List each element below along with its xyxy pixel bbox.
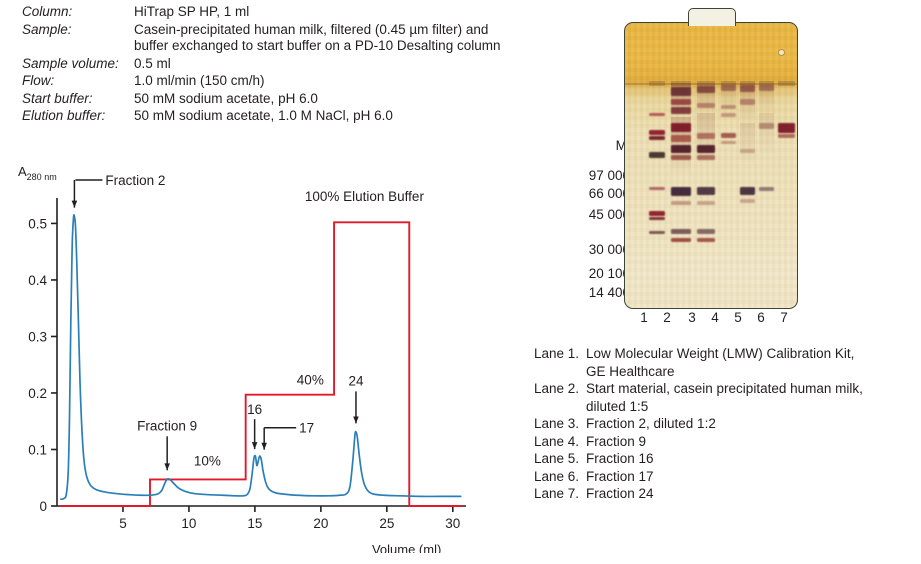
gel-lane-6 <box>759 83 774 302</box>
gel-band <box>649 130 666 135</box>
fraction-17-arrow-head <box>261 443 267 450</box>
gel-smear <box>740 123 755 163</box>
gel-band <box>721 133 736 138</box>
gel-lane-3 <box>697 83 715 302</box>
gel-well-6 <box>759 81 774 86</box>
legend-text-line1: Fraction 16 <box>586 451 654 466</box>
annotation-fraction-2: Fraction 2 <box>105 173 165 188</box>
legend-lane-text: Fraction 16 <box>586 450 914 468</box>
y-axis-tick-labels: 00.10.20.30.40.5 <box>28 216 47 514</box>
gel-band <box>649 187 666 190</box>
legend-row: Lane 4.Fraction 9 <box>534 433 914 451</box>
gel-band <box>697 103 715 108</box>
y-tick-label: 0.1 <box>28 442 47 457</box>
legend-lane-key: Lane 2. <box>534 380 586 398</box>
gel-band <box>721 113 736 117</box>
gel-lane-2 <box>671 83 691 302</box>
gel-band <box>759 187 774 191</box>
y-tick-label: 0.5 <box>28 216 47 231</box>
gel-band <box>671 87 691 96</box>
method-parameters: Column: HiTrap SP HP, 1 ml Sample: Casei… <box>22 4 562 126</box>
param-row: Column: HiTrap SP HP, 1 ml <box>22 4 562 21</box>
param-key: Start buffer: <box>22 91 134 108</box>
param-row: Sample volume: 0.5 ml <box>22 56 562 73</box>
gel-well-3 <box>697 81 715 86</box>
gel-band <box>740 149 755 153</box>
gel-band <box>671 123 691 132</box>
legend-lane-text: Start material, casein precipitated huma… <box>586 380 914 415</box>
gel-band <box>697 155 715 160</box>
gel-body <box>624 22 798 309</box>
gel-well-1 <box>649 81 666 86</box>
x-tick-label: 15 <box>247 516 262 531</box>
x-axis-tick-labels: 51015202530 <box>119 516 460 531</box>
y-tick-label: 0 <box>39 499 47 514</box>
param-value: 50 mM sodium acetate, 1.0 M NaCl, pH 6.0 <box>134 108 393 125</box>
absorbance-trace <box>61 215 461 499</box>
param-key: Sample volume: <box>22 56 134 73</box>
gel-band <box>671 145 691 153</box>
fraction-16-arrow-head <box>252 442 258 449</box>
param-row: Sample: Casein-precipitated human milk, … <box>22 22 562 55</box>
legend-text-line1: Start material, casein precipitated huma… <box>586 381 863 396</box>
legend-lane-text: Low Molecular Weight (LMW) Calibration K… <box>586 345 914 380</box>
gel-band <box>671 238 691 242</box>
param-value: Casein-precipitated human milk, filtered… <box>134 22 500 55</box>
gel-band <box>778 134 795 138</box>
gel-lane-number-4: 4 <box>707 310 723 325</box>
gel-band <box>778 123 795 133</box>
gel-well-5 <box>740 81 755 86</box>
fraction-24-arrow-head <box>353 416 359 423</box>
legend-text-line1: Fraction 9 <box>586 434 646 449</box>
gel-lane-number-3: 3 <box>684 310 700 325</box>
fraction-2-arrow-head <box>72 201 78 208</box>
y-tick-label: 0.3 <box>28 329 47 344</box>
chromatogram: 00.10.20.30.40.5 51015202530 A280 nm Vol… <box>0 158 480 553</box>
legend-lane-text: Fraction 24 <box>586 485 914 503</box>
param-value-line1: Casein-precipitated human milk, filtered… <box>134 22 488 37</box>
gel-band <box>671 155 691 160</box>
gel-lane-5 <box>740 83 755 302</box>
legend-lane-key: Lane 7. <box>534 485 586 503</box>
x-tick-label: 20 <box>313 516 328 531</box>
y-tick-label: 0.2 <box>28 386 47 401</box>
legend-text-line1: Fraction 2, diluted 1:2 <box>586 416 716 431</box>
legend-row: Lane 6.Fraction 17 <box>534 468 914 486</box>
gel-band <box>671 187 691 196</box>
gel-well-7 <box>778 81 795 86</box>
gel-lane-number-1: 1 <box>636 310 652 325</box>
legend-lane-key: Lane 3. <box>534 415 586 433</box>
y-axis-title: A280 nm <box>18 164 57 182</box>
gel-lane-number-6: 6 <box>753 310 769 325</box>
legend-lane-key: Lane 6. <box>534 468 586 486</box>
param-row: Start buffer: 50 mM sodium acetate, pH 6… <box>22 91 562 108</box>
legend-lane-key: Lane 5. <box>534 450 586 468</box>
chromatogram-svg: 00.10.20.30.40.5 51015202530 A280 nm Vol… <box>0 158 480 553</box>
gel-band <box>649 231 666 234</box>
legend-lane-text: Fraction 9 <box>586 433 914 451</box>
gel-well-2 <box>671 81 691 86</box>
gel-band <box>649 113 666 116</box>
param-value-line2: buffer exchanged to start buffer on a PD… <box>134 38 500 55</box>
x-tick-label: 5 <box>119 516 127 531</box>
gel-band <box>671 99 691 105</box>
gel-band <box>671 201 691 205</box>
gel-band <box>740 99 755 105</box>
sds-page-gel <box>620 8 800 308</box>
legend-row: Lane 2.Start material, casein precipitat… <box>534 380 914 415</box>
legend-lane-key: Lane 1. <box>534 345 586 363</box>
gel-band <box>697 133 715 139</box>
gel-band <box>721 105 736 109</box>
annotation-fraction-24: 24 <box>348 373 364 388</box>
legend-row: Lane 5.Fraction 16 <box>534 450 914 468</box>
gel-band <box>740 199 755 203</box>
gel-band <box>697 201 715 205</box>
param-value: 50 mM sodium acetate, pH 6.0 <box>134 91 318 108</box>
gel-lane-number-7: 7 <box>776 310 792 325</box>
legend-lane-text: Fraction 17 <box>586 468 914 486</box>
gel-lane-number-2: 2 <box>659 310 675 325</box>
y-tick-label: 0.4 <box>28 273 47 288</box>
gel-band <box>649 211 666 216</box>
param-key: Flow: <box>22 73 134 90</box>
legend-text-line1: Low Molecular Weight (LMW) Calibration K… <box>586 346 854 361</box>
gel-bubble <box>778 49 785 56</box>
param-row: Flow: 1.0 ml/min (150 cm/h) <box>22 73 562 90</box>
legend-text-line1: Fraction 24 <box>586 486 654 501</box>
param-value: HiTrap SP HP, 1 ml <box>134 4 249 21</box>
x-axis-title: Volume (ml) <box>372 542 441 553</box>
gel-lane-4 <box>721 83 736 302</box>
x-tick-label: 10 <box>181 516 196 531</box>
param-key: Column: <box>22 4 134 21</box>
gel-lane-7 <box>778 83 795 302</box>
legend-text-line2: GE Healthcare <box>586 363 914 381</box>
annotation-fraction-16: 16 <box>247 402 262 417</box>
legend-text-line2: diluted 1:5 <box>586 398 914 416</box>
fraction-9-arrow-head <box>164 463 170 470</box>
legend-lane-text: Fraction 2, diluted 1:2 <box>586 415 914 433</box>
gel-band <box>740 187 755 195</box>
gel-band <box>697 187 715 195</box>
gel-band <box>740 85 755 92</box>
gel-band <box>649 217 666 220</box>
y-axis-ticks <box>51 223 57 506</box>
legend-row: Lane 7.Fraction 24 <box>534 485 914 503</box>
param-value: 1.0 ml/min (150 cm/h) <box>134 73 265 90</box>
gel-band <box>649 136 666 140</box>
legend-row: Lane 3.Fraction 2, diluted 1:2 <box>534 415 914 433</box>
param-key: Sample: <box>22 22 134 39</box>
gel-band <box>649 152 666 158</box>
gel-lane-1 <box>649 83 666 302</box>
gel-band <box>759 123 774 129</box>
annotation-arrows <box>72 180 359 470</box>
gel-band <box>697 229 715 234</box>
gel-band <box>697 238 715 242</box>
annotation-elution-100: 100% Elution Buffer <box>305 189 425 204</box>
annotation-gradient-40: 40% <box>297 372 324 387</box>
annotation-fraction-17: 17 <box>299 421 314 436</box>
gel-band <box>671 107 691 114</box>
gel-top-notch <box>688 8 736 26</box>
figure-page: Column: HiTrap SP HP, 1 ml Sample: Casei… <box>0 0 921 564</box>
legend-row: Lane 1.Low Molecular Weight (LMW) Calibr… <box>534 345 914 380</box>
gel-band <box>697 145 715 153</box>
annotation-gradient-10: 10% <box>194 453 221 468</box>
x-axis-ticks <box>123 506 453 512</box>
legend-text-line1: Fraction 17 <box>586 469 654 484</box>
gel-band <box>721 141 736 144</box>
gel-band <box>671 135 691 142</box>
legend-lane-key: Lane 4. <box>534 433 586 451</box>
gel-well-4 <box>721 81 736 86</box>
x-tick-label: 30 <box>445 516 460 531</box>
x-tick-label: 25 <box>379 516 394 531</box>
gel-lane-numbers: 1234567 <box>620 310 800 328</box>
param-value: 0.5 ml <box>134 56 171 73</box>
annotation-fraction-9: Fraction 9 <box>137 418 197 433</box>
gel-band <box>671 229 691 234</box>
lane-legend: Lane 1.Low Molecular Weight (LMW) Calibr… <box>534 345 914 503</box>
gel-smear <box>759 113 774 153</box>
gel-band <box>697 86 715 93</box>
param-row: Elution buffer: 50 mM sodium acetate, 1.… <box>22 108 562 125</box>
gel-lane-number-5: 5 <box>730 310 746 325</box>
param-key: Elution buffer: <box>22 108 134 125</box>
